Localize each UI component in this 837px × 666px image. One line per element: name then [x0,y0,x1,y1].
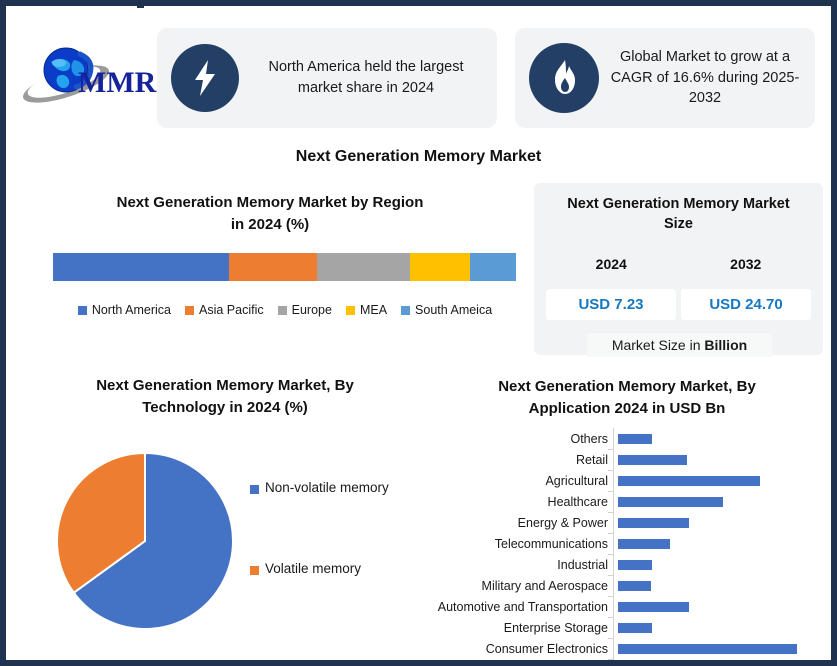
market-size-value-end: USD 24.70 [681,289,811,320]
region-chart-title-line1: Next Generation Memory Market by Region [30,192,510,214]
application-bar-chart: OthersRetailAgriculturalHealthcareEnergy… [430,428,822,660]
technology-chart-title-line2: Technology in 2024 (%) [40,397,410,419]
bar-category-label: Enterprise Storage [430,621,613,635]
market-size-year-end: 2032 [679,256,814,272]
header-card-region-share: North America held the largest market sh… [157,28,497,128]
technology-chart-title-line1: Next Generation Memory Market, By [40,375,410,397]
market-size-year-start: 2024 [544,256,679,272]
bar-category-label: Agricultural [430,474,613,488]
bar-chart-row: Others [430,428,822,449]
page-title: Next Generation Memory Market [0,148,837,166]
region-legend-item: Asia Pacific [185,303,264,317]
region-legend-item: South Ameica [401,303,492,317]
bar-category-label: Consumer Electronics [430,642,613,656]
technology-legend-label: Volatile memory [265,561,361,576]
legend-swatch-icon [401,306,410,315]
technology-chart-legend: Non-volatile memoryVolatile memory [250,480,400,576]
legend-swatch-icon [250,485,259,494]
bar-chart-row: Healthcare [430,491,822,512]
bar-fill [618,560,652,570]
region-chart-title-line2: in 2024 (%) [30,214,510,236]
bar-chart-row: Enterprise Storage [430,617,822,638]
bar-chart-row: Energy & Power [430,512,822,533]
technology-legend-label: Non-volatile memory [265,480,389,495]
bar-category-label: Military and Aerospace [430,579,613,593]
bar-fill [618,539,670,549]
bar-category-label: Retail [430,453,613,467]
bar-fill [618,644,797,654]
region-legend-item: North America [78,303,171,317]
header-card-1-text: North America held the largest market sh… [249,57,497,98]
region-legend-label: North America [92,303,171,317]
region-legend-label: South Ameica [415,303,492,317]
market-size-unit-prefix: Market Size in [612,337,705,353]
bar-chart-row: Agricultural [430,470,822,491]
market-size-title-line1: Next Generation Memory Market [544,195,813,215]
region-legend-label: Europe [292,303,332,317]
bar-fill [618,434,652,444]
region-legend-label: Asia Pacific [199,303,264,317]
bar-chart-row: Automotive and Transportation [430,596,822,617]
legend-swatch-icon [250,566,259,575]
header-card-2-text: Global Market to grow at a CAGR of 16.6%… [609,47,815,109]
region-legend-label: MEA [360,303,387,317]
technology-legend-item: Non-volatile memory [250,480,400,495]
bar-category-label: Industrial [430,558,613,572]
bar-fill [618,602,689,612]
market-size-title: Next Generation Memory Market Size [544,195,813,234]
bar-category-label: Others [430,432,613,446]
flame-icon [529,43,599,113]
bar-fill [618,476,760,486]
mmr-logo: MMR [18,32,158,110]
bar-fill [618,581,651,591]
bar-category-label: Healthcare [430,495,613,509]
market-size-values: USD 7.23 USD 24.70 [546,289,811,320]
bar-category-label: Telecommunications [430,537,613,551]
market-size-years: 2024 2032 [544,256,813,272]
legend-swatch-icon [346,306,355,315]
application-chart-title: Next Generation Memory Market, By Applic… [432,376,822,420]
region-segment [470,253,516,281]
header-card-cagr: Global Market to grow at a CAGR of 16.6%… [515,28,815,128]
legend-swatch-icon [78,306,87,315]
application-chart-title-line1: Next Generation Memory Market, By [432,376,822,398]
globe-icon: MMR [18,32,158,110]
infographic-canvas: MMR North America held the largest marke… [0,0,837,666]
legend-swatch-icon [185,306,194,315]
lightning-bolt-icon [171,44,239,112]
technology-chart-title: Next Generation Memory Market, By Techno… [40,375,410,419]
region-segment [53,253,229,281]
region-chart-legend: North AmericaAsia PacificEuropeMEASouth … [40,303,530,317]
bar-fill [618,623,652,633]
market-size-unit-note: Market Size in Billion [587,333,772,357]
market-size-unit-strong: Billion [704,337,747,353]
region-stacked-bar [53,253,516,281]
bar-chart-row: Consumer Electronics [430,638,822,659]
region-segment [317,253,410,281]
bar-category-label: Automotive and Transportation [430,600,613,614]
market-size-panel: Next Generation Memory Market Size 2024 … [534,183,823,355]
technology-pie-chart [56,452,234,630]
market-size-value-start: USD 7.23 [546,289,676,320]
bar-chart-row: Retail [430,449,822,470]
bar-chart-row: Military and Aerospace [430,575,822,596]
legend-swatch-icon [278,306,287,315]
region-legend-item: MEA [346,303,387,317]
market-size-title-line2: Size [544,215,813,235]
axis-tick [608,659,613,660]
region-segment [229,253,317,281]
region-chart-title: Next Generation Memory Market by Region … [30,192,510,236]
bar-chart-row: Industrial [430,554,822,575]
bar-fill [618,497,723,507]
bar-category-label: Energy & Power [430,516,613,530]
bar-chart-row: Telecommunications [430,533,822,554]
application-chart-title-line2: Application 2024 in USD Bn [432,398,822,420]
bar-fill [618,455,687,465]
region-legend-item: Europe [278,303,332,317]
region-segment [410,253,470,281]
technology-legend-item: Volatile memory [250,561,400,576]
bar-fill [618,518,689,528]
logo-text: MMR [78,66,157,99]
